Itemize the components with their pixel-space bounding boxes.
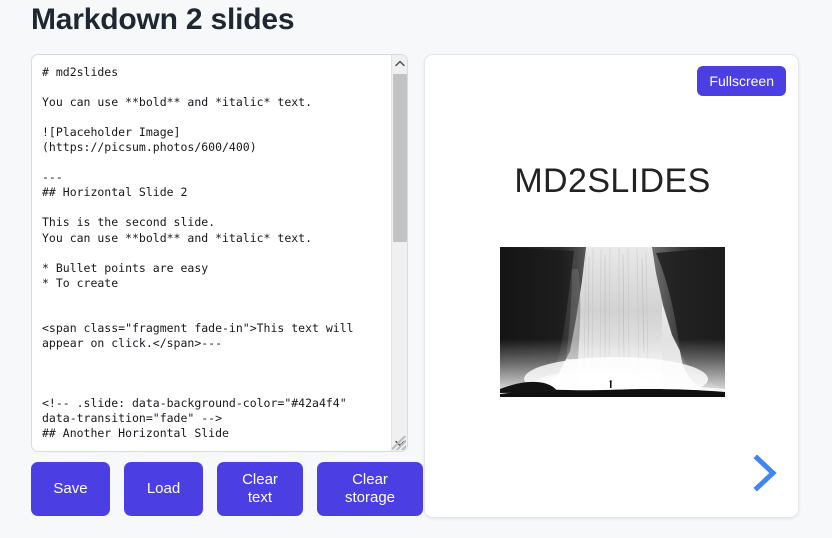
editor-shell: # md2slides You can use **bold** and *it…	[31, 54, 408, 452]
resize-grip-icon[interactable]	[392, 436, 406, 450]
slide-canvas: MD2SLIDES You can use bold and italic te…	[425, 55, 799, 518]
slide-image	[500, 247, 725, 397]
markdown-source-editor[interactable]: # md2slides You can use **bold** and *it…	[32, 55, 392, 451]
next-slide-button[interactable]	[748, 453, 782, 493]
editor-scrollbar[interactable]	[391, 55, 407, 451]
clear-storage-button[interactable]: Clear storage	[317, 462, 423, 516]
clear-text-button[interactable]: Clear text	[217, 462, 303, 516]
page-title: Markdown 2 slides	[31, 2, 294, 38]
chevron-right-icon	[751, 454, 779, 492]
editor-toolbar: Save Load Clear text Clear storage	[31, 462, 423, 516]
slide-title: MD2SLIDES	[425, 161, 799, 201]
scrollbar-up-arrow[interactable]	[392, 55, 408, 71]
app-root: Markdown 2 slides # md2slides You can us…	[0, 0, 832, 538]
editor-pane: # md2slides You can use **bold** and *it…	[31, 54, 408, 452]
load-button[interactable]: Load	[124, 462, 203, 516]
slide-preview-card: Fullscreen MD2SLIDES You can use bold an…	[424, 54, 799, 518]
scrollbar-thumb[interactable]	[393, 74, 407, 242]
save-button[interactable]: Save	[31, 462, 110, 516]
